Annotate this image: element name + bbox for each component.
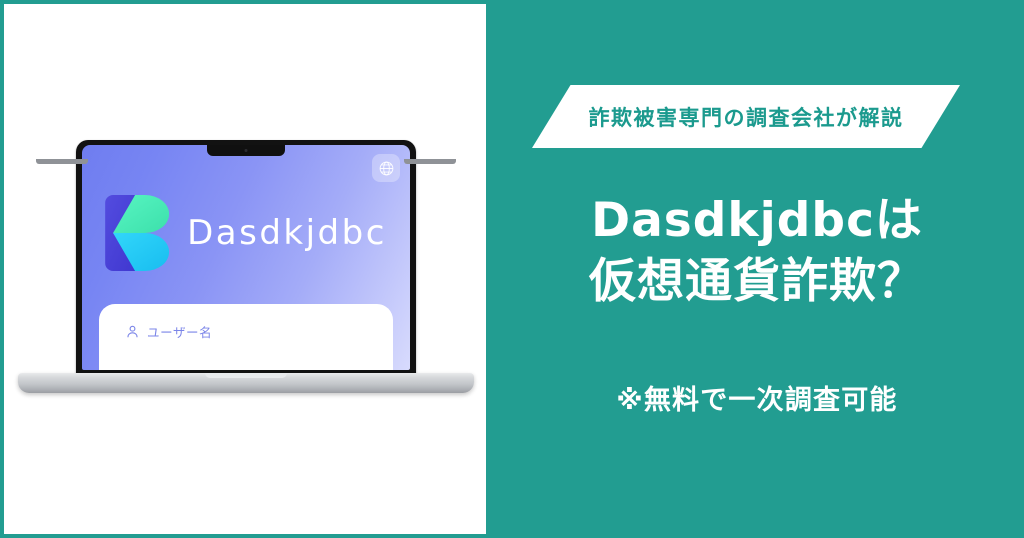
ribbon-banner: 詐欺被害専門の調査会社が解説 <box>532 85 960 148</box>
user-icon <box>125 324 140 339</box>
laptop-foot-left <box>36 159 88 164</box>
dasdkjdbc-logo-icon <box>105 195 169 271</box>
webcam-notch <box>207 145 285 156</box>
left-white-panel: Dasdkjdbc ユーザー名 <box>4 4 486 534</box>
headline-line-2: 仮想通貨詐欺？ <box>490 251 1024 312</box>
login-card: ユーザー名 <box>99 304 393 370</box>
laptop-screen: Dasdkjdbc ユーザー名 <box>82 145 410 370</box>
globe-icon[interactable] <box>372 154 400 182</box>
laptop-lid: Dasdkjdbc ユーザー名 <box>76 140 416 376</box>
laptop-base-notch <box>205 373 287 378</box>
username-input[interactable]: ユーザー名 <box>125 322 212 341</box>
laptop-base <box>18 373 474 393</box>
brand-name: Dasdkjdbc <box>187 216 387 250</box>
headline: Dasdkjdbcは 仮想通貨詐欺？ <box>490 190 1024 312</box>
laptop-foot-right <box>404 159 456 164</box>
username-placeholder: ユーザー名 <box>147 322 212 341</box>
ribbon-label: 詐欺被害専門の調査会社が解説 <box>589 102 904 132</box>
promo-banner-canvas: Dasdkjdbc ユーザー名 <box>0 0 1024 538</box>
subline: ※無料で一次調査可能 <box>490 378 1024 417</box>
brand-lockup: Dasdkjdbc <box>105 195 387 271</box>
headline-line-1: Dasdkjdbcは <box>490 190 1024 251</box>
laptop-mockup: Dasdkjdbc ユーザー名 <box>18 140 474 406</box>
right-teal-panel: 詐欺被害専門の調査会社が解説 Dasdkjdbcは 仮想通貨詐欺？ ※無料で一次… <box>490 0 1024 538</box>
